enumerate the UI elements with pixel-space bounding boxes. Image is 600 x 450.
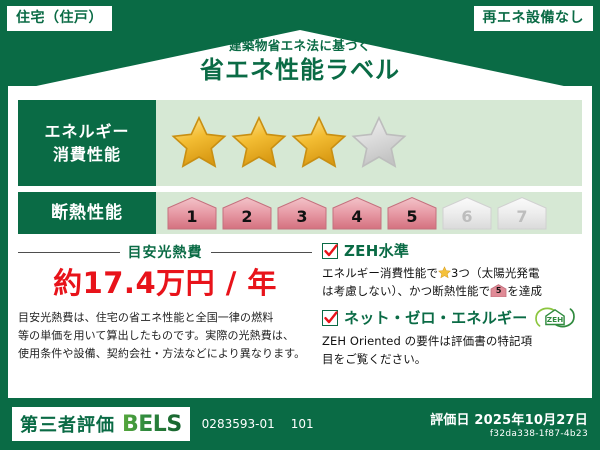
zeh-standard-body-a: エネルギー消費性能で — [322, 266, 438, 280]
utility-cost-note-line1: 目安光熱費は、住宅の省エネ性能と全国一律の燃料 — [18, 309, 312, 327]
star-empty-icon — [350, 115, 408, 171]
inline-level-badge: 5 — [490, 284, 507, 297]
net-zero-body-line2: 目をご覧ください。 — [322, 350, 582, 368]
header-title: 省エネ性能ラベル — [0, 55, 600, 85]
evaluation-hash: f32da338-1f87-4b23 — [430, 429, 588, 439]
svg-text:ZEH: ZEH — [546, 315, 563, 324]
insulation-level-empty: 7 — [496, 196, 548, 230]
unit-number: 101 — [291, 417, 314, 431]
evaluation-info: 評価日 2025年10月27日 f32da338-1f87-4b23 — [430, 409, 588, 439]
bels-numbers: 0283593-01 101 — [202, 417, 314, 431]
label-footer: 第三者評価 BELS 0283593-01 101 評価日 2025年10月27… — [0, 398, 600, 450]
utility-cost-heading: 目安光熱費 — [18, 242, 312, 262]
bels-jp-text: 第三者評価 — [20, 411, 115, 437]
label-header: 建築物省エネ法に基づく 省エネ性能ラベル — [0, 38, 600, 85]
bels-logo: 第三者評価 BELS — [12, 407, 190, 441]
star-filled-icon — [170, 115, 228, 171]
net-zero-title: ネット・ゼロ・エネルギー — [344, 307, 528, 328]
label-body-card: エネルギー 消費性能 断熱性能 1234567 目安光熱費 約17.4万 — [8, 92, 592, 398]
star-filled-icon — [290, 115, 348, 171]
energy-performance-label: 住宅（住戸） 再エネ設備なし 建築物省エネ法に基づく 省エネ性能ラベル エネルギ… — [0, 0, 600, 450]
insulation-performance-label: 断熱性能 — [18, 192, 156, 234]
insulation-level-value: 5 — [406, 207, 417, 230]
energy-performance-row: エネルギー 消費性能 — [18, 100, 582, 186]
insulation-level-value: 1 — [186, 207, 197, 230]
insulation-level-empty: 6 — [441, 196, 493, 230]
badge-renewable-equipment: 再エネ設備なし — [473, 5, 595, 32]
badge-building-type: 住宅（住戸） — [6, 5, 113, 32]
utility-cost-heading-text: 目安光熱費 — [128, 242, 203, 262]
evaluation-date: 評価日 2025年10月27日 — [430, 409, 588, 428]
net-zero-body: ZEH Oriented の要件は評価書の特記項 目をご覧ください。 — [322, 332, 582, 369]
utility-cost-value: 約17.4万円 / 年 — [18, 268, 312, 300]
check-icon — [322, 310, 338, 326]
utility-cost-column: 目安光熱費 約17.4万円 / 年 目安光熱費は、住宅の省エネ性能と全国一律の燃… — [18, 240, 318, 375]
utility-cost-note: 目安光熱費は、住宅の省エネ性能と全国一律の燃料 等の単価を用いて算出したものです… — [18, 309, 312, 363]
zeh-logo-icon: ZEH — [534, 307, 576, 329]
zeh-column: ZEH水準 エネルギー消費性能で3つ（太陽光発電は考慮しない）、かつ断熱性能で5… — [318, 240, 582, 375]
zeh-standard-body-c: は考慮しない）、かつ断熱性能で — [322, 284, 490, 298]
utility-cost-note-line3: 使用条件や設備、契約会社・方法などにより異なります。 — [18, 345, 312, 363]
lower-section: 目安光熱費 約17.4万円 / 年 目安光熱費は、住宅の省エネ性能と全国一律の燃… — [18, 240, 582, 375]
insulation-level-filled: 1 — [166, 196, 218, 230]
insulation-level-value: 7 — [516, 207, 527, 230]
insulation-level-filled: 2 — [221, 196, 273, 230]
insulation-performance-row: 断熱性能 1234567 — [18, 192, 582, 234]
inline-star-icon — [438, 266, 451, 279]
star-filled-icon — [230, 115, 288, 171]
star-rating — [170, 115, 408, 171]
insulation-level-scale: 1234567 — [166, 196, 548, 230]
zeh-standard-title-row: ZEH水準 — [322, 240, 582, 261]
zeh-standard-body: エネルギー消費性能で3つ（太陽光発電は考慮しない）、かつ断熱性能で5を達成 — [322, 264, 582, 301]
energy-performance-value — [156, 100, 582, 186]
inline-level-value: 5 — [490, 284, 507, 297]
header-subtitle: 建築物省エネ法に基づく — [0, 38, 600, 53]
energy-label-line1: エネルギー — [44, 120, 129, 143]
insulation-level-value: 3 — [296, 207, 307, 230]
net-zero-title-row: ネット・ゼロ・エネルギー ZEH — [322, 307, 582, 329]
bels-en-text: BELS — [122, 412, 182, 437]
insulation-level-value: 6 — [461, 207, 472, 230]
insulation-level-value: 4 — [351, 207, 362, 230]
rule-right — [211, 252, 313, 253]
zeh-standard-body-d: を達成 — [507, 284, 542, 298]
energy-performance-label: エネルギー 消費性能 — [18, 100, 156, 186]
utility-cost-note-line2: 等の単価を用いて算出したものです。実際の光熱費は、 — [18, 327, 312, 345]
zeh-standard-body-b: 3つ（太陽光発電 — [451, 266, 540, 280]
insulation-level-value: 2 — [241, 207, 252, 230]
net-zero-body-line1: ZEH Oriented の要件は評価書の特記項 — [322, 332, 582, 350]
insulation-level-filled: 3 — [276, 196, 328, 230]
rule-left — [18, 252, 120, 253]
insulation-performance-value: 1234567 — [156, 192, 582, 234]
zeh-standard-block: ZEH水準 エネルギー消費性能で3つ（太陽光発電は考慮しない）、かつ断熱性能で5… — [322, 240, 582, 301]
energy-label-line2: 消費性能 — [53, 143, 121, 166]
net-zero-block: ネット・ゼロ・エネルギー ZEH ZEH Oriented の要件は評価書の特記… — [322, 307, 582, 369]
insulation-level-filled: 5 — [386, 196, 438, 230]
check-icon — [322, 243, 338, 259]
zeh-standard-title: ZEH水準 — [344, 240, 409, 261]
insulation-level-filled: 4 — [331, 196, 383, 230]
registration-number: 0283593-01 — [202, 417, 275, 431]
